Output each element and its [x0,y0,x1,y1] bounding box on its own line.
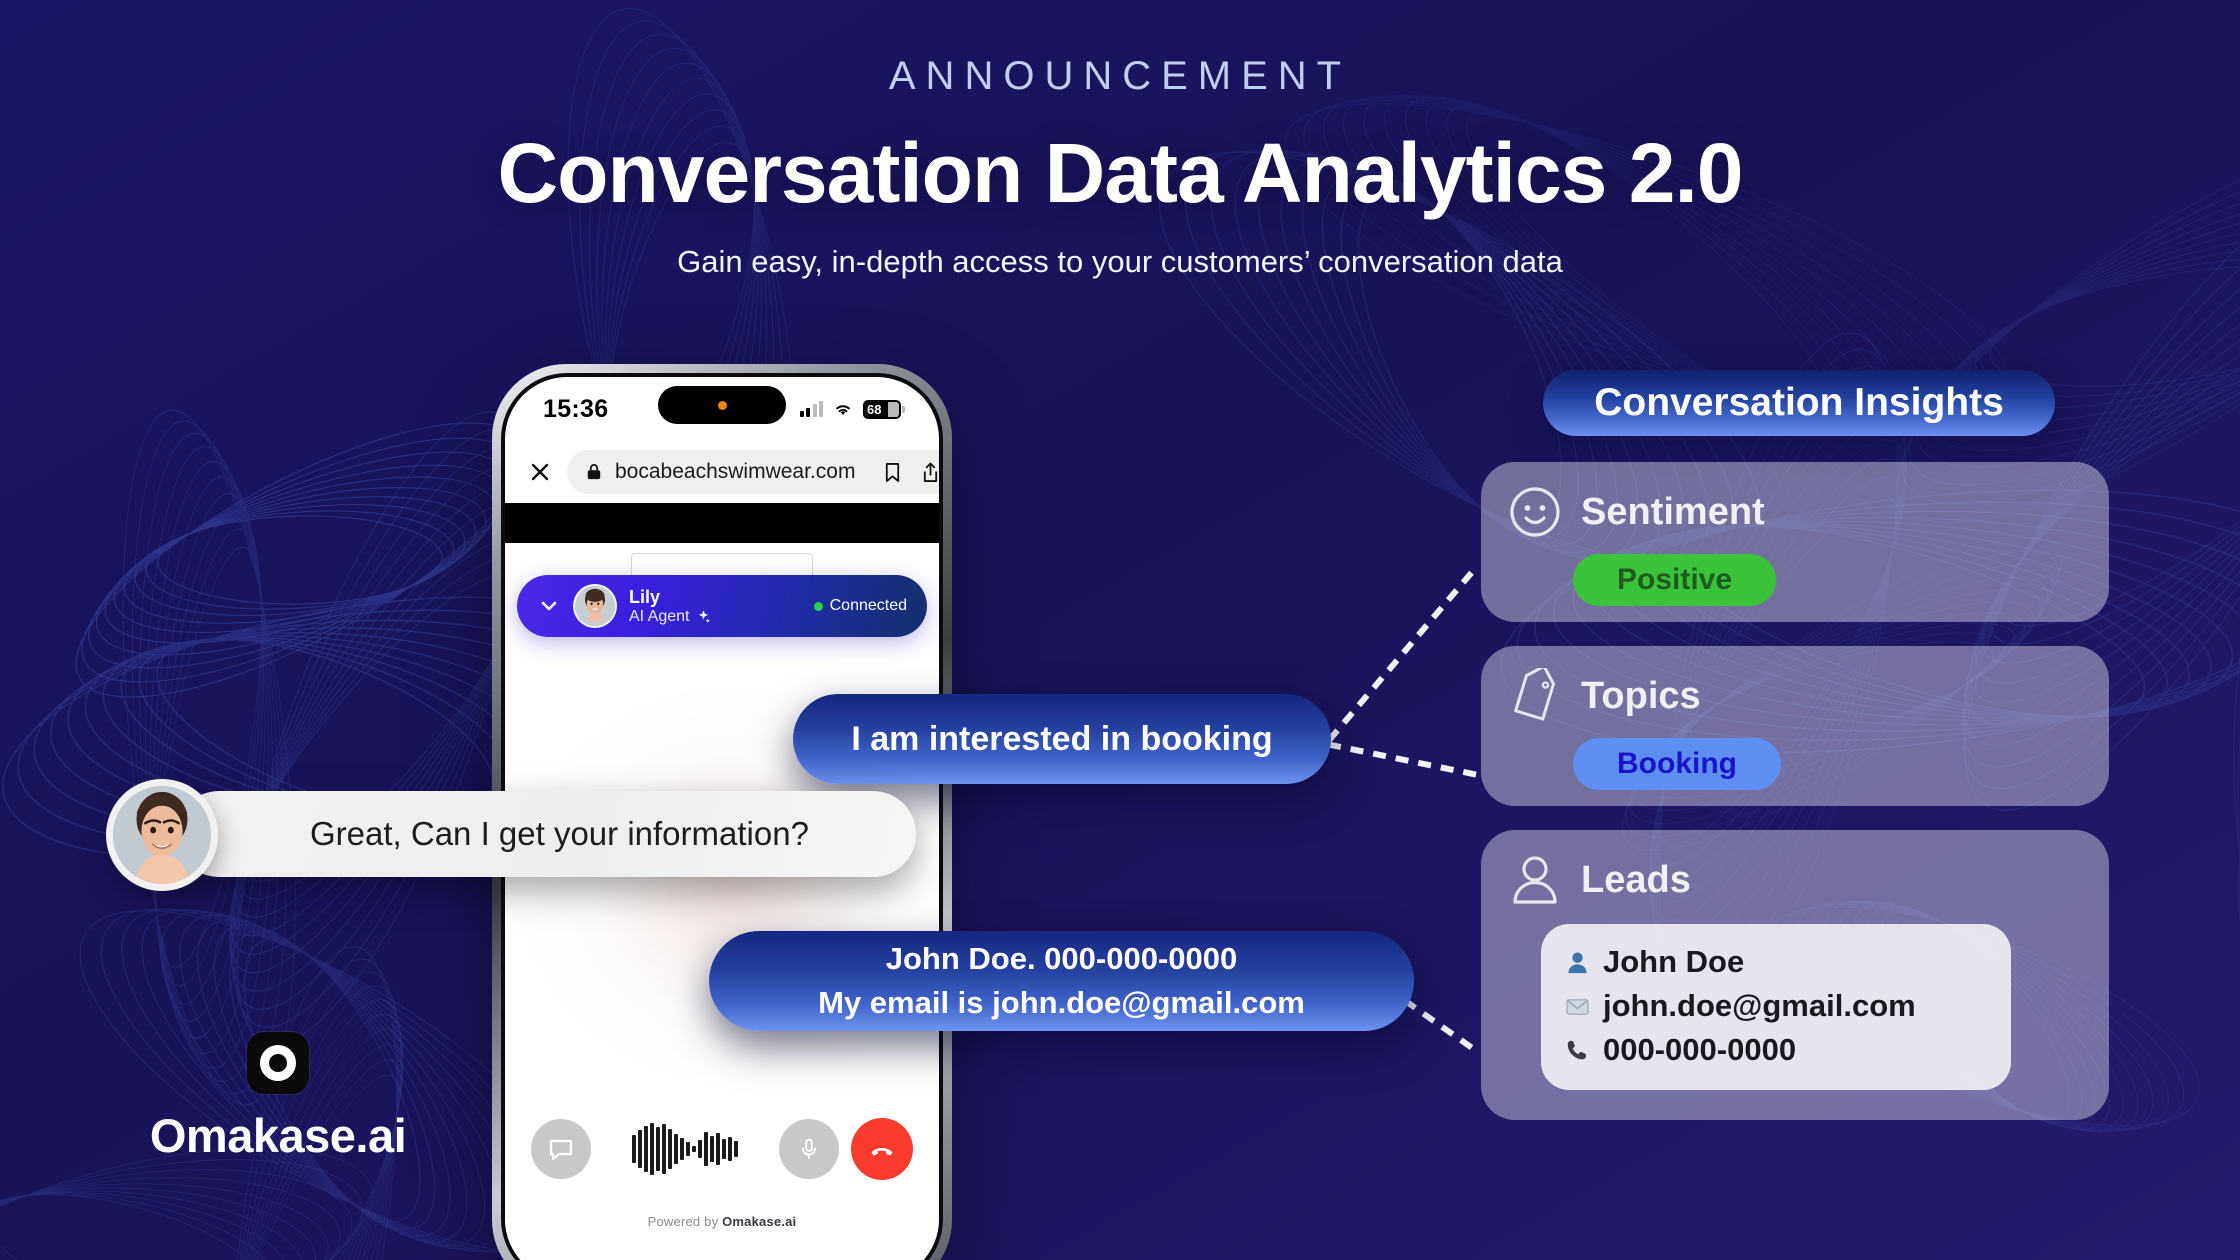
smiley-face-icon [1507,484,1563,540]
chat-bubble-customer-interest: I am interested in booking [793,694,1331,784]
lead-name-row: John Doe [1563,940,1989,984]
card-header: Topics [1507,668,2083,724]
person-bust-icon [1563,948,1591,976]
chat-bubble-button[interactable] [531,1119,591,1179]
powered-by-footer: Powered by Omakase.ai [505,1214,939,1229]
status-bar: 15:36 68 [505,377,939,441]
chat-bubble-customer-lead: John Doe. 000-000-0000 My email is john.… [709,931,1414,1031]
card-header: Leads [1507,852,2083,908]
dynamic-island [658,386,786,424]
battery-percent: 68 [867,402,881,417]
agent-avatar [573,584,617,628]
card-title: Leads [1581,859,1691,902]
lead-email-row: john.doe@gmail.com [1563,984,1989,1028]
bubble-text-line1: John Doe. 000-000-0000 [886,940,1238,978]
battery-fill [888,402,899,417]
card-header: Sentiment [1507,484,2083,540]
call-controls [505,1109,939,1189]
chevron-down-icon[interactable] [537,594,561,618]
agent-role-label: AI Agent [629,608,690,626]
insights-pill: Conversation Insights [1543,370,2055,436]
microphone-button[interactable] [779,1119,839,1179]
card-topics[interactable]: Topics Booking [1481,646,2109,806]
page-content: Lily AI Agent Connected [505,543,939,1260]
cellular-bars-icon [800,401,824,417]
url-bar[interactable]: bocabeachswimwear.com [567,450,939,494]
lead-phone-row: 000-000-0000 [1563,1028,1989,1072]
status-label: Connected [830,597,907,615]
page-header-band [505,503,939,543]
lead-phone: 000-000-0000 [1603,1028,1796,1072]
logo-ring-shape [260,1045,296,1081]
connector-to-topics [1331,745,1478,775]
card-sentiment[interactable]: Sentiment Positive [1481,462,2109,622]
lead-name: John Doe [1603,940,1744,984]
card-title: Sentiment [1581,491,1765,534]
lead-details: John Doe john.doe@gmail.com 000-000-0000 [1541,924,2011,1090]
header: ANNOUNCEMENT Conversation Data Analytics… [0,54,2240,280]
status-time: 15:36 [543,395,608,424]
share-icon[interactable] [917,459,939,485]
insights-pill-label: Conversation Insights [1594,381,2004,425]
agent-header-bar[interactable]: Lily AI Agent Connected [517,575,927,637]
agent-role: AI Agent [629,608,802,626]
connection-status: Connected [814,597,907,615]
bubble-text-line2: My email is john.doe@gmail.com [818,984,1305,1022]
camera-indicator-dot [718,401,727,410]
brand-name: Omakase.ai [123,1108,433,1163]
close-icon[interactable] [527,459,553,485]
announcement-graphic: ANNOUNCEMENT Conversation Data Analytics… [0,0,2240,1260]
battery-icon: 68 [863,400,901,419]
lock-icon [585,462,603,482]
bubble-text: Great, Can I get your information? [310,815,809,853]
audio-waveform-icon [603,1121,767,1177]
status-dot [814,602,823,611]
status-badge-sentiment: Positive [1573,554,1776,606]
wifi-icon [832,400,854,418]
agent-bubble-avatar [106,779,218,891]
powered-brand: Omakase.ai [722,1214,796,1229]
envelope-icon [1563,992,1591,1020]
page-title: Conversation Data Analytics 2.0 [0,125,2240,222]
connector-to-sentiment [1331,565,1478,738]
person-outline-icon [1507,852,1563,908]
sparkles-icon [695,608,712,625]
powered-prefix: Powered by [648,1214,722,1229]
page-subtitle: Gain easy, in-depth access to your custo… [0,244,2240,280]
announcement-kicker: ANNOUNCEMENT [0,54,2240,99]
omakase-ring-logo [247,1032,309,1094]
agent-info: Lily AI Agent [629,587,802,626]
card-title: Topics [1581,675,1701,718]
status-indicators: 68 [800,400,902,419]
agent-name: Lily [629,587,660,607]
card-leads[interactable]: Leads John Doe john.doe@gmail.com [1481,830,2109,1120]
browser-toolbar: bocabeachswimwear.com [505,441,939,503]
brand-logo: Omakase.ai [123,1032,433,1163]
conversation-insights-panel: Conversation Insights Sentiment Positive [1481,370,2121,1120]
bookmark-icon[interactable] [879,459,905,485]
topic-badge-booking: Booking [1573,738,1781,790]
lead-email: john.doe@gmail.com [1603,984,1916,1028]
url-text: bocabeachswimwear.com [615,460,855,484]
connector-to-leads [1407,1002,1482,1055]
phone-icon [1563,1036,1591,1064]
tag-icon [1507,668,1563,724]
chat-bubble-agent-ask: Great, Can I get your information? [176,791,916,877]
bubble-text: I am interested in booking [851,720,1272,759]
end-call-button[interactable] [851,1118,913,1180]
